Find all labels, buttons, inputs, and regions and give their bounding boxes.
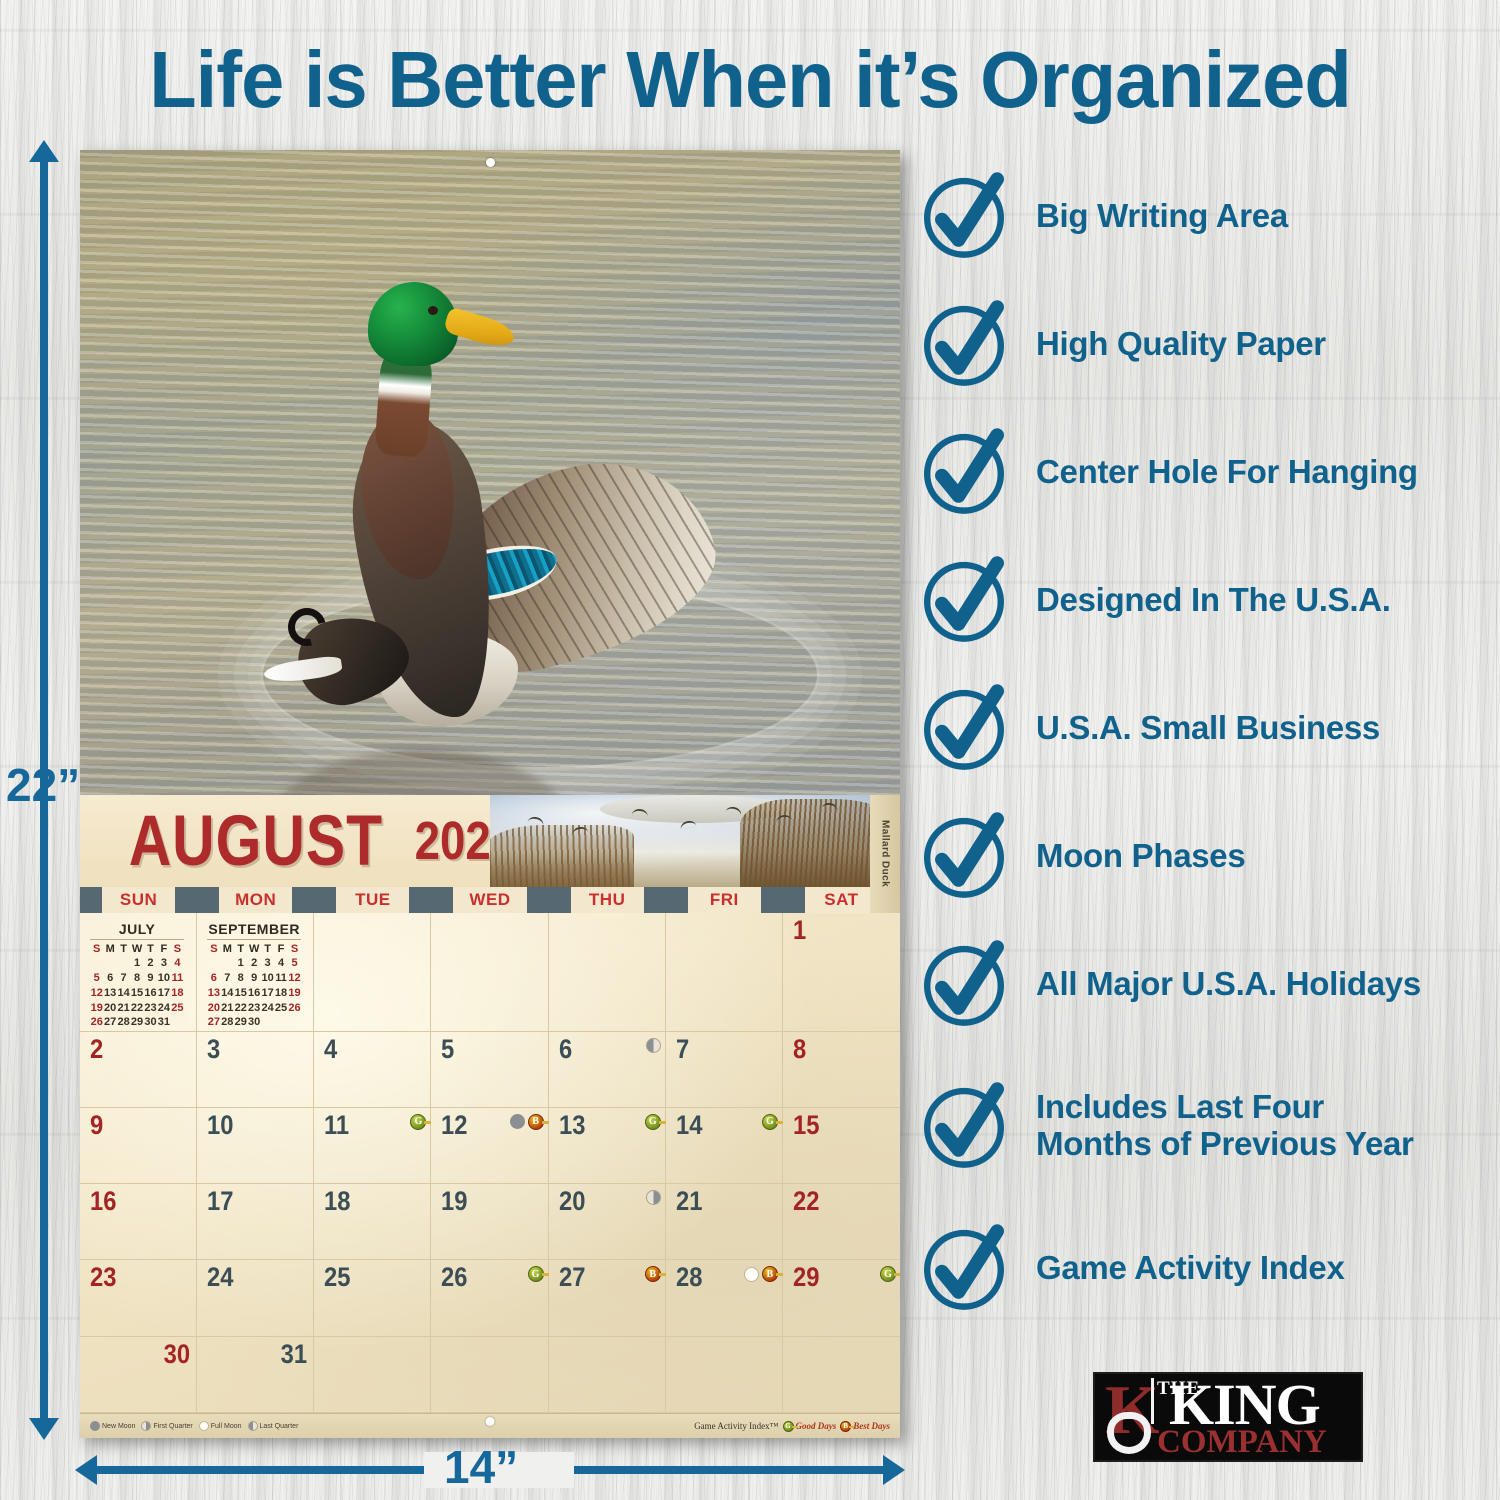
day-number: 1 <box>793 917 806 944</box>
calendar-day-cell[interactable] <box>666 913 783 1032</box>
calendar-grid-wrap: JULYSMTWTFS12345678910111213141516171819… <box>80 913 900 1413</box>
mini-day: 5 <box>288 957 302 972</box>
day-icons: B <box>645 1266 661 1282</box>
legend-item-best: BBest Days <box>840 1421 890 1432</box>
day-number: 9 <box>90 1112 103 1139</box>
mini-day: 3 <box>261 957 274 972</box>
calendar-day-cell[interactable]: 27B <box>549 1260 666 1336</box>
feature-item: All Major U.S.A. Holidays <box>918 928 1498 1040</box>
calendar-day-cell[interactable] <box>666 1337 783 1413</box>
legend-item-full: Full Moon <box>199 1421 242 1431</box>
calendar-day-cell[interactable]: 1 <box>783 913 900 1032</box>
mini-dow: T <box>261 942 274 957</box>
mini-dow: S <box>171 942 185 957</box>
calendar-day-cell[interactable]: 12B <box>431 1108 548 1184</box>
checkmark-circle-icon <box>918 554 1010 646</box>
game-activity-best-icon: B <box>528 1114 544 1130</box>
mini-day: 4 <box>171 957 185 972</box>
day-icons: G <box>880 1266 896 1282</box>
mini-day: 19 <box>90 1001 103 1016</box>
moon-phase-full-icon <box>744 1267 759 1282</box>
mini-day <box>288 1016 302 1031</box>
calendar-day-cell[interactable]: 20 <box>549 1184 666 1260</box>
mini-day: 7 <box>117 972 130 987</box>
calendar-day-cell[interactable]: 10 <box>197 1108 314 1184</box>
hanging-hole-top <box>486 158 495 167</box>
mini-dow: F <box>157 942 170 957</box>
mini-day: 1 <box>130 957 143 972</box>
mini-day: 21 <box>221 1001 234 1016</box>
feature-item: Center Hole For Hanging <box>918 416 1498 528</box>
calendar-day-cell[interactable]: 9 <box>80 1108 197 1184</box>
mini-day: 9 <box>247 972 260 987</box>
day-number: 5 <box>441 1036 454 1063</box>
calendar-day-cell[interactable]: 7 <box>666 1032 783 1108</box>
calendar-day-cell[interactable] <box>431 1337 548 1413</box>
mini-calendar-title: SEPTEMBER <box>207 921 301 940</box>
checkmark-circle-icon <box>918 682 1010 774</box>
feature-label: Center Hole For Hanging <box>1036 454 1418 491</box>
king-company-logo: K KING THE COMPANY <box>1093 1372 1363 1462</box>
calendar-day-cell[interactable]: 5 <box>431 1032 548 1108</box>
mini-day: 27 <box>207 1016 220 1031</box>
calendar-day-cell[interactable]: 8 <box>783 1032 900 1108</box>
mini-dow: S <box>288 942 302 957</box>
feature-label: High Quality Paper <box>1036 326 1326 363</box>
mini-dow: M <box>103 942 116 957</box>
day-number: 11 <box>324 1112 349 1139</box>
mini-day <box>171 1016 185 1031</box>
mini-dow: M <box>221 942 234 957</box>
weekday-header-row: SUNMONTUEWEDTHUFRISAT <box>80 887 900 913</box>
mini-day: 25 <box>171 1001 185 1016</box>
mini-day: 10 <box>157 972 170 987</box>
mini-dow: W <box>247 942 260 957</box>
calendar-day-cell[interactable]: 11G <box>314 1108 431 1184</box>
calendar-preview: AUGUST 2026 SUNMONTUEWEDTHUFRISAT JULYSM… <box>80 150 900 1438</box>
weekday-sat: SAT <box>805 887 878 913</box>
day-icons: G <box>528 1266 544 1282</box>
mini-day: 6 <box>207 972 220 987</box>
legend-label: New Moon <box>102 1423 135 1430</box>
game-activity-legend: Game Activity Index™ GGood DaysBBest Day… <box>694 1421 890 1432</box>
calendar-month-header: AUGUST 2026 <box>80 795 900 887</box>
mini-day: 19 <box>288 986 302 1001</box>
mini-day: 8 <box>234 972 247 987</box>
calendar-day-cell[interactable]: 19 <box>431 1184 548 1260</box>
feature-list: Big Writing AreaHigh Quality PaperCenter… <box>918 160 1498 1340</box>
day-number: 24 <box>207 1264 233 1291</box>
calendar-day-cell[interactable]: 29G <box>783 1260 900 1336</box>
day-number: 16 <box>90 1188 116 1215</box>
calendar-day-cell[interactable] <box>549 913 666 1032</box>
mini-day: 6 <box>103 972 116 987</box>
game-activity-good-icon: G <box>645 1114 661 1130</box>
legend-label: Last Quarter <box>260 1423 299 1430</box>
weekday-tue: TUE <box>336 887 409 913</box>
mini-dow: T <box>144 942 157 957</box>
calendar-day-cell[interactable] <box>549 1337 666 1413</box>
mini-day: 26 <box>90 1016 103 1031</box>
mini-calendar-september: SEPTEMBERSMTWTFS123456789101112131415161… <box>207 921 307 1031</box>
calendar-photo <box>80 150 900 795</box>
day-number: 15 <box>793 1112 819 1139</box>
day-icons: G <box>645 1114 661 1130</box>
mini-day: 31 <box>157 1016 170 1031</box>
duck-eye <box>428 306 438 315</box>
legend-label: Best Days <box>853 1421 890 1431</box>
legend-item-last: Last Quarter <box>248 1421 299 1431</box>
calendar-day-cell[interactable] <box>314 1337 431 1413</box>
calendar-day-cell[interactable] <box>431 913 548 1032</box>
mini-day: 18 <box>274 986 287 1001</box>
mini-day: 2 <box>247 957 260 972</box>
mini-day: 24 <box>261 1001 274 1016</box>
promo-page: Life is Better When it’s Organized 22” 1… <box>0 0 1500 1500</box>
day-icons: B <box>510 1114 544 1130</box>
game-activity-best-icon: B <box>645 1266 661 1282</box>
moon-phase-first-icon <box>141 1421 151 1431</box>
mini-day <box>103 957 116 972</box>
mini-day <box>207 957 220 972</box>
calendar-day-cell[interactable]: 17 <box>197 1184 314 1260</box>
calendar-day-cell[interactable]: 6 <box>549 1032 666 1108</box>
weekday-fri: FRI <box>688 887 761 913</box>
moon-phase-full-icon <box>199 1421 209 1431</box>
game-activity-good-icon: G <box>762 1114 778 1130</box>
day-number: 14 <box>676 1112 702 1139</box>
mini-day: 16 <box>144 986 157 1001</box>
calendar-day-cell[interactable]: 18 <box>314 1184 431 1260</box>
day-number: 30 <box>164 1341 190 1368</box>
moon-phase-new-icon <box>510 1114 525 1129</box>
photo-caption-text: Mallard Duck <box>880 820 891 887</box>
moon-phase-last-icon <box>248 1421 258 1431</box>
mini-day <box>221 957 234 972</box>
mini-day: 23 <box>144 1001 157 1016</box>
mini-day: 20 <box>103 1001 116 1016</box>
mini-day <box>90 957 103 972</box>
day-number: 28 <box>676 1264 702 1291</box>
calendar-day-cell[interactable]: 23 <box>80 1260 197 1336</box>
calendar-day-cell[interactable]: 30 <box>80 1337 197 1413</box>
mini-dow: F <box>274 942 287 957</box>
mini-day <box>117 957 130 972</box>
mini-day: 8 <box>130 972 143 987</box>
height-dimension-label: 22” <box>6 758 80 812</box>
legend-label: Good Days <box>796 1421 837 1431</box>
calendar-day-cell[interactable]: 14G <box>666 1108 783 1184</box>
mallard-duck-illustration <box>250 260 710 770</box>
day-number: 6 <box>559 1036 572 1063</box>
mini-dow: S <box>207 942 220 957</box>
day-number: 20 <box>559 1188 585 1215</box>
mini-day: 10 <box>261 972 274 987</box>
day-number: 7 <box>676 1036 689 1063</box>
feature-label: All Major U.S.A. Holidays <box>1036 966 1421 1003</box>
mini-day: 11 <box>274 972 287 987</box>
calendar-day-cell[interactable] <box>783 1337 900 1413</box>
mini-day: 14 <box>221 986 234 1001</box>
mini-day: 3 <box>157 957 170 972</box>
moon-phase-legend: New MoonFirst QuarterFull MoonLast Quart… <box>90 1421 298 1431</box>
feature-label: Designed In The U.S.A. <box>1036 582 1391 619</box>
feature-label: Big Writing Area <box>1036 198 1288 235</box>
game-activity-good-icon: G <box>880 1266 896 1282</box>
hanging-hole-bottom <box>486 1417 495 1426</box>
feature-item: Big Writing Area <box>918 160 1498 272</box>
mini-day: 12 <box>90 986 103 1001</box>
feature-item: High Quality Paper <box>918 288 1498 400</box>
day-number: 17 <box>207 1188 233 1215</box>
calendar-day-cell[interactable]: 13G <box>549 1108 666 1184</box>
day-icons <box>646 1190 661 1205</box>
legend-item-new: New Moon <box>90 1421 135 1431</box>
mini-day: 15 <box>130 986 143 1001</box>
mini-day: 11 <box>171 972 185 987</box>
day-number: 27 <box>559 1264 585 1291</box>
day-number: 12 <box>441 1112 467 1139</box>
mini-day: 17 <box>261 986 274 1001</box>
moon-phase-new-icon <box>90 1421 100 1431</box>
calendar-day-cell[interactable]: 24 <box>197 1260 314 1336</box>
day-number: 25 <box>324 1264 350 1291</box>
logo-company-text: COMPANY <box>1157 1426 1327 1459</box>
day-number: 3 <box>207 1036 220 1063</box>
day-number: 21 <box>676 1188 702 1215</box>
mini-day: 21 <box>117 1001 130 1016</box>
calendar-grid: JULYSMTWTFS12345678910111213141516171819… <box>80 913 900 1413</box>
game-activity-best-icon: B <box>762 1266 778 1282</box>
feature-item: Includes Last FourMonths of Previous Yea… <box>918 1056 1498 1196</box>
day-number: 31 <box>281 1341 307 1368</box>
day-number: 29 <box>793 1264 819 1291</box>
mini-day <box>261 1016 274 1031</box>
mini-dow: W <box>130 942 143 957</box>
mini-calendar-title: JULY <box>90 921 184 940</box>
game-activity-good-icon: G <box>783 1421 794 1432</box>
header-artwork <box>490 795 900 887</box>
mini-day: 7 <box>221 972 234 987</box>
calendar-day-cell[interactable] <box>314 913 431 1032</box>
mini-day: 13 <box>207 986 220 1001</box>
legend-label: First Quarter <box>153 1423 192 1430</box>
mini-day: 20 <box>207 1001 220 1016</box>
mini-day: 29 <box>234 1016 247 1031</box>
game-activity-best-icon: B <box>840 1421 851 1432</box>
weekday-mon: MON <box>219 887 292 913</box>
mini-day: 28 <box>117 1016 130 1031</box>
mini-day: 27 <box>103 1016 116 1031</box>
day-number: 4 <box>324 1036 337 1063</box>
mini-day: 29 <box>130 1016 143 1031</box>
feature-label: Includes Last FourMonths of Previous Yea… <box>1036 1089 1414 1163</box>
day-number: 2 <box>90 1036 103 1063</box>
photo-caption-spine: Mallard Duck <box>870 795 900 913</box>
checkmark-circle-icon <box>918 170 1010 262</box>
logo-the-text: THE <box>1157 1378 1200 1400</box>
feature-item: Game Activity Index <box>918 1212 1498 1324</box>
calendar-day-cell[interactable]: 16 <box>80 1184 197 1260</box>
mini-calendar-july: JULYSMTWTFS12345678910111213141516171819… <box>90 921 190 1031</box>
weekday-sun: SUN <box>102 887 175 913</box>
header-marsh-left <box>490 825 634 887</box>
calendar-day-cell[interactable]: 31 <box>197 1337 314 1413</box>
gai-title: Game Activity Index™ <box>694 1421 778 1431</box>
feature-label: Game Activity Index <box>1036 1250 1345 1287</box>
page-title: Life is Better When it’s Organized <box>23 34 1478 126</box>
checkmark-circle-icon <box>918 298 1010 390</box>
mini-day: 22 <box>234 1001 247 1016</box>
day-number: 22 <box>793 1188 819 1215</box>
moon-phase-last-icon <box>646 1038 661 1053</box>
day-number: 18 <box>324 1188 350 1215</box>
month-name: AUGUST <box>129 800 383 882</box>
mini-dow: S <box>90 942 103 957</box>
moon-phase-first-icon <box>646 1190 661 1205</box>
mini-day: 13 <box>103 986 116 1001</box>
calendar-day-cell[interactable]: 25 <box>314 1260 431 1336</box>
feature-item: Moon Phases <box>918 800 1498 912</box>
mini-dow: T <box>117 942 130 957</box>
calendar-day-cell[interactable]: SEPTEMBERSMTWTFS123456789101112131415161… <box>197 913 314 1032</box>
legend-label: Full Moon <box>211 1423 242 1430</box>
width-dimension-label: 14” <box>430 1440 532 1494</box>
feature-item: Designed In The U.S.A. <box>918 544 1498 656</box>
feature-label: U.S.A. Small Business <box>1036 710 1380 747</box>
mini-day: 2 <box>144 957 157 972</box>
calendar-day-cell[interactable]: 15 <box>783 1108 900 1184</box>
feature-label: Moon Phases <box>1036 838 1245 875</box>
mini-day: 9 <box>144 972 157 987</box>
mini-day <box>274 1016 287 1031</box>
calendar-legend-bar: New MoonFirst QuarterFull MoonLast Quart… <box>80 1413 900 1438</box>
legend-item-good: GGood Days <box>783 1421 837 1432</box>
mini-day: 16 <box>247 986 260 1001</box>
mini-day: 15 <box>234 986 247 1001</box>
day-icons: G <box>410 1114 426 1130</box>
mini-day: 12 <box>288 972 302 987</box>
weekday-thu: THU <box>571 887 644 913</box>
feature-item: U.S.A. Small Business <box>918 672 1498 784</box>
mini-day: 25 <box>274 1001 287 1016</box>
mini-day: 28 <box>221 1016 234 1031</box>
mini-day: 26 <box>288 1001 302 1016</box>
gai-legend-items: GGood DaysBBest Days <box>783 1421 891 1432</box>
checkmark-circle-icon <box>918 938 1010 1030</box>
calendar-day-cell[interactable]: 4 <box>314 1032 431 1108</box>
mini-day: 18 <box>171 986 185 1001</box>
mini-day: 5 <box>90 972 103 987</box>
checkmark-circle-icon <box>918 810 1010 902</box>
mini-day: 14 <box>117 986 130 1001</box>
calendar-day-cell[interactable]: 28B <box>666 1260 783 1336</box>
checkmark-circle-icon <box>918 426 1010 518</box>
mini-day: 22 <box>130 1001 143 1016</box>
day-icons: G <box>762 1114 778 1130</box>
game-activity-good-icon: G <box>528 1266 544 1282</box>
logo-ring-icon <box>1107 1412 1151 1454</box>
mini-day: 24 <box>157 1001 170 1016</box>
checkmark-circle-icon <box>918 1080 1010 1172</box>
calendar-day-cell[interactable]: 2 <box>80 1032 197 1108</box>
day-icons: B <box>744 1266 778 1282</box>
day-number: 13 <box>559 1112 585 1139</box>
game-activity-good-icon: G <box>410 1114 426 1130</box>
calendar-day-cell[interactable]: 3 <box>197 1032 314 1108</box>
mini-day: 23 <box>247 1001 260 1016</box>
day-icons <box>646 1038 661 1053</box>
calendar-day-cell[interactable]: 21 <box>666 1184 783 1260</box>
checkmark-circle-icon <box>918 1222 1010 1314</box>
weekday-wed: WED <box>453 887 526 913</box>
mini-day: 30 <box>247 1016 260 1031</box>
day-number: 10 <box>207 1112 233 1139</box>
day-number: 23 <box>90 1264 116 1291</box>
calendar-day-cell[interactable]: JULYSMTWTFS12345678910111213141516171819… <box>80 913 197 1032</box>
mini-day: 1 <box>234 957 247 972</box>
mini-day: 30 <box>144 1016 157 1031</box>
mini-dow: T <box>234 942 247 957</box>
calendar-day-cell[interactable]: 22 <box>783 1184 900 1260</box>
day-number: 8 <box>793 1036 806 1063</box>
day-number: 26 <box>441 1264 467 1291</box>
logo-divider <box>1151 1378 1154 1424</box>
mini-day: 17 <box>157 986 170 1001</box>
mini-day: 4 <box>274 957 287 972</box>
legend-item-first: First Quarter <box>141 1421 192 1431</box>
day-number: 19 <box>441 1188 467 1215</box>
calendar-day-cell[interactable]: 26G <box>431 1260 548 1336</box>
